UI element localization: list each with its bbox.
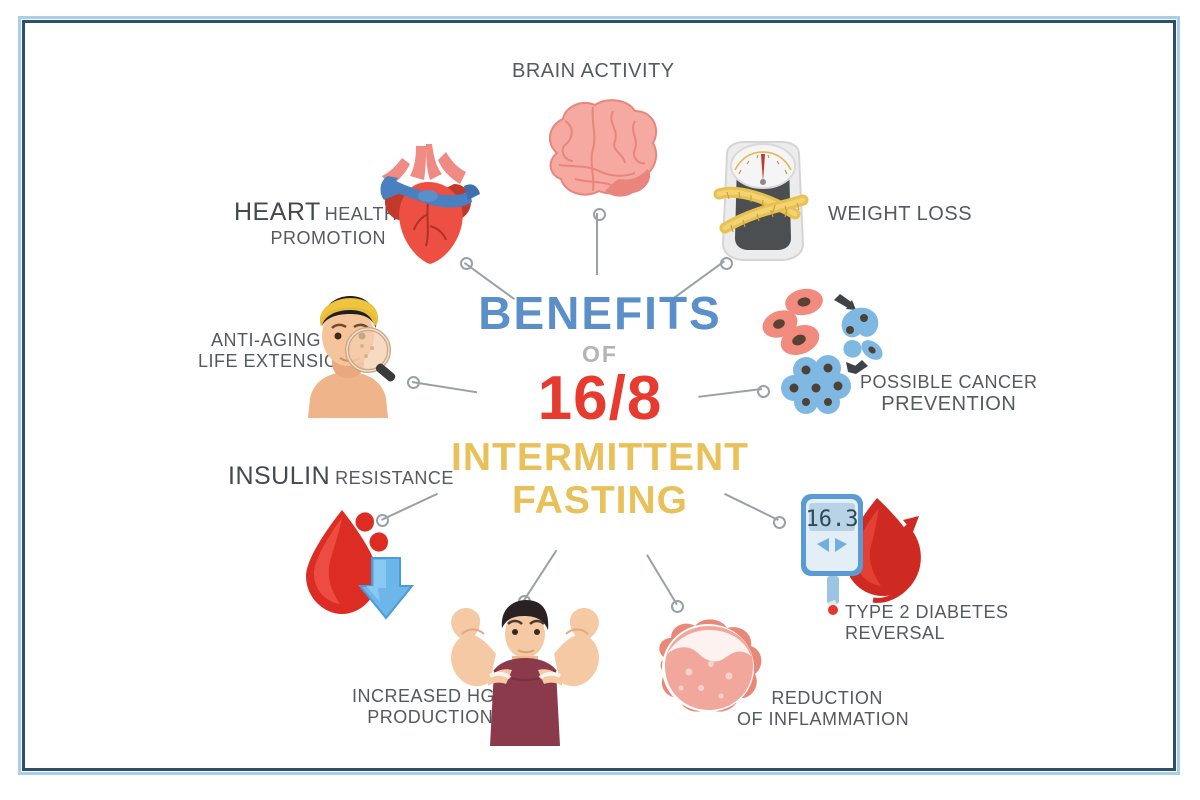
label-brain-activity: BRAIN ACTIVITY xyxy=(512,60,675,84)
title-intermittent: INTERMITTENT xyxy=(420,438,780,477)
title-benefits: BENEFITS xyxy=(420,290,780,336)
label-insulin-big: INSULIN xyxy=(228,462,330,490)
face-magnifier-icon xyxy=(292,288,412,418)
connector-stem xyxy=(523,550,557,601)
center-title-block: BENEFITS OF 16/8 INTERMITTENT FASTING xyxy=(420,290,780,520)
label-brain-activity-text: BRAIN ACTIVITY xyxy=(512,60,675,82)
label-insulin-resistance: INSULINRESISTANCE xyxy=(228,462,454,492)
title-of: OF xyxy=(420,343,780,366)
label-heart-line2: PROMOTION xyxy=(234,228,386,249)
inflamed-tissue-icon xyxy=(645,612,780,727)
label-insulin-small: RESISTANCE xyxy=(335,468,454,488)
infographic-poster: BENEFITS OF 16/8 INTERMITTENT FASTING BR… xyxy=(0,0,1200,800)
label-weight-loss: WEIGHT LOSS xyxy=(828,203,972,227)
meter-reading-text: 16.3 xyxy=(806,507,859,532)
brain-icon xyxy=(535,95,665,210)
weight-scale-icon xyxy=(705,140,820,265)
label-heart-health: HEARTHEALTH PROMOTION xyxy=(234,198,386,249)
muscle-man-icon xyxy=(438,598,613,748)
glucose-meter-icon: 16.3 xyxy=(785,490,925,620)
title-fasting: FASTING xyxy=(420,481,780,520)
connector-stem xyxy=(646,554,678,605)
heart-icon xyxy=(372,140,487,270)
label-heart-big: HEART xyxy=(234,198,321,226)
label-weight-loss-text: WEIGHT LOSS xyxy=(828,203,972,225)
cancer-cells-icon xyxy=(752,282,892,407)
title-ratio: 16/8 xyxy=(420,368,780,430)
connector-stem xyxy=(596,213,598,275)
label-diabetes-line2: REVERSAL xyxy=(845,623,1009,644)
blood-drop-down-arrow-icon xyxy=(296,498,411,623)
